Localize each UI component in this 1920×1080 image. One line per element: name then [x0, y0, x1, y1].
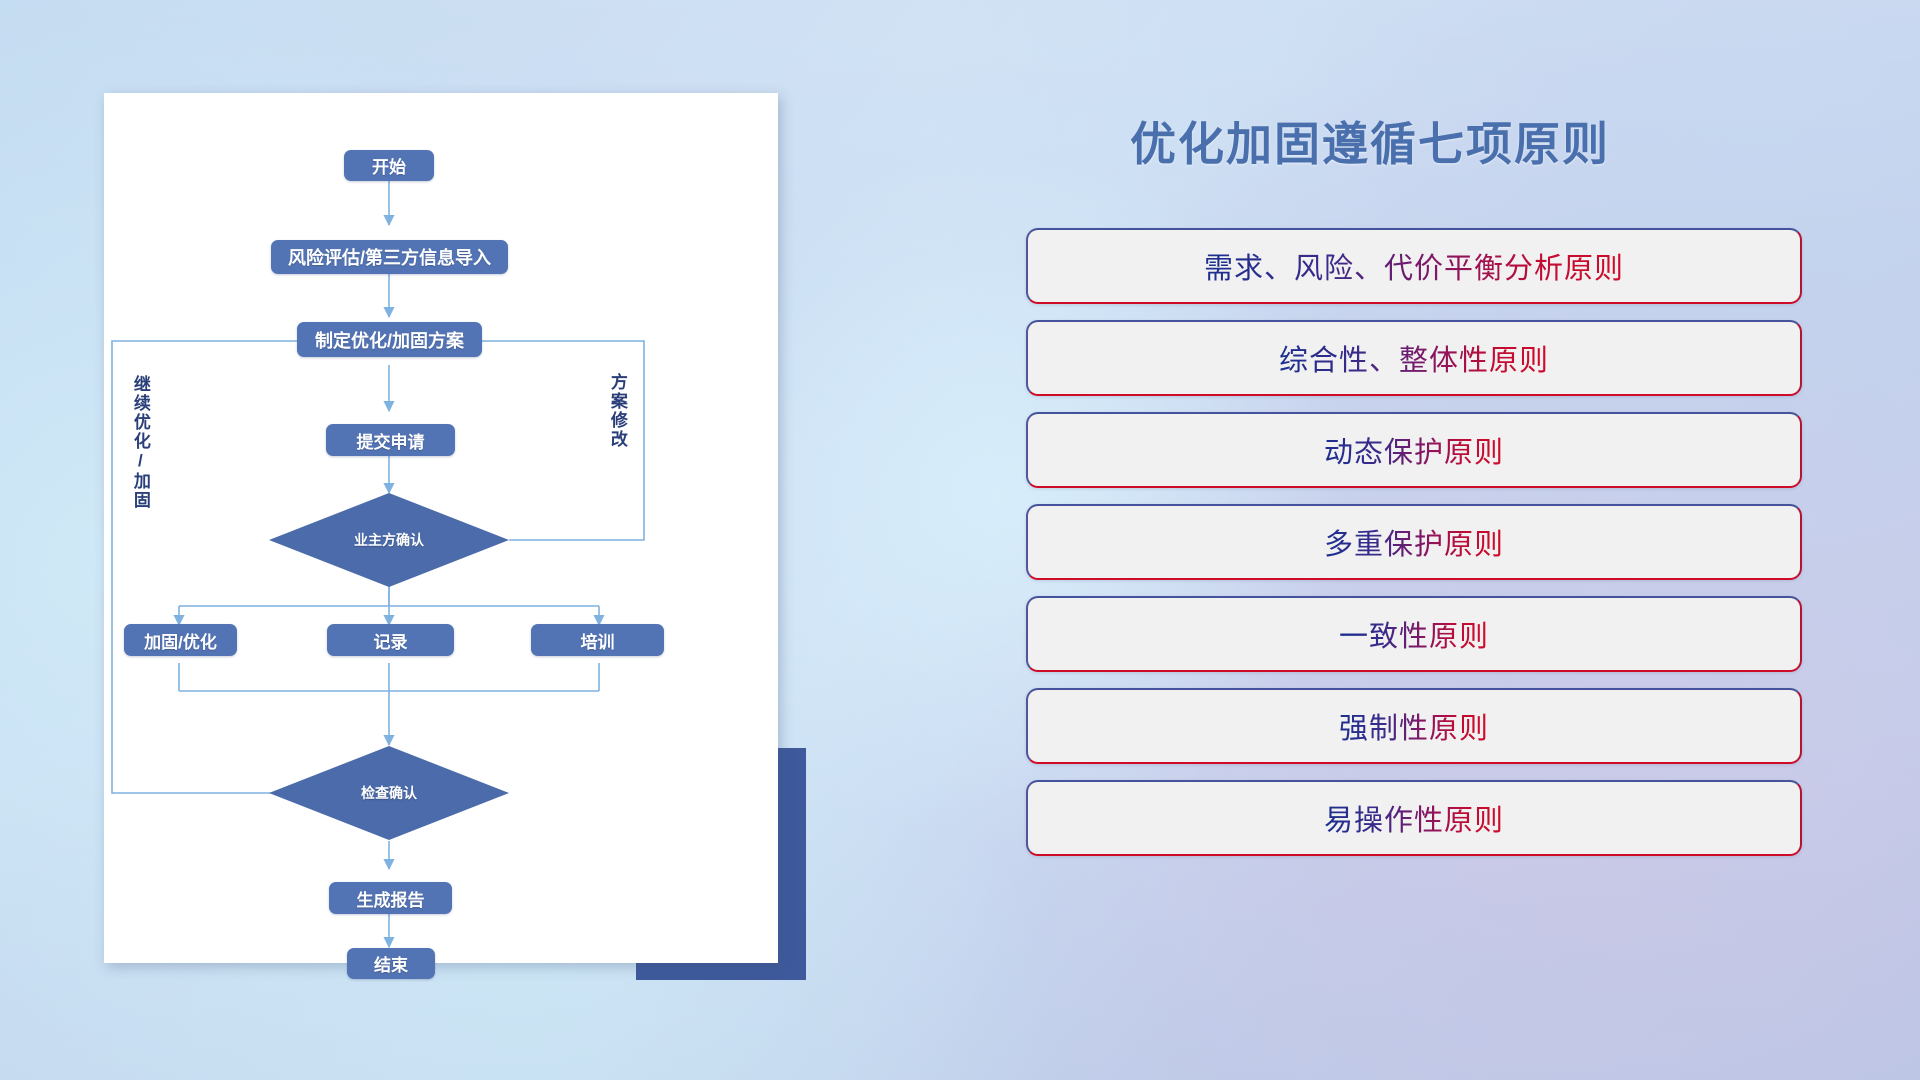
principle-label: 需求、风险、代价平衡分析原则	[1204, 245, 1624, 287]
flow-node-plan[interactable]: 制定优化/加固方案	[297, 322, 482, 357]
flow-node-label: 培训	[581, 628, 615, 653]
right-panel-title: 优化加固遵循七项原则	[1020, 108, 1720, 174]
flow-node-start[interactable]: 开始	[344, 150, 434, 181]
principle-item[interactable]: 多重保护原则	[1026, 504, 1802, 580]
flow-node-report[interactable]: 生成报告	[329, 882, 452, 914]
flow-node-label: 提交申请	[357, 428, 425, 453]
principle-label: 综合性、整体性原则	[1279, 337, 1549, 379]
flow-node-record[interactable]: 记录	[327, 624, 454, 656]
principle-item[interactable]: 强制性原则	[1026, 688, 1802, 764]
principle-label: 多重保护原则	[1324, 521, 1504, 563]
flow-node-training[interactable]: 培训	[531, 624, 664, 656]
flow-node-label: 风险评估/第三方信息导入	[288, 244, 491, 270]
flow-node-reinforce[interactable]: 加固/优化	[124, 624, 237, 656]
flow-node-label: 开始	[372, 153, 406, 178]
flow-node-label: 加固/优化	[144, 628, 217, 653]
principle-item[interactable]: 一致性原则	[1026, 596, 1802, 672]
flow-node-owner-confirm[interactable]: 业主方确认	[269, 493, 509, 587]
principle-label: 一致性原则	[1339, 613, 1489, 655]
flowchart-card: 开始 风险评估/第三方信息导入 制定优化/加固方案 提交申请 业主方确认 加固/…	[104, 93, 778, 963]
principle-label: 动态保护原则	[1324, 429, 1504, 471]
flow-node-end[interactable]: 结束	[347, 948, 435, 979]
principle-label: 易操作性原则	[1324, 797, 1504, 839]
flow-node-label: 检查确认	[361, 783, 417, 803]
flow-node-check-confirm[interactable]: 检查确认	[269, 746, 509, 840]
flow-node-label: 业主方确认	[354, 530, 424, 550]
edge-label-plan-revision: 方案修改	[608, 373, 626, 449]
flow-node-label: 结束	[374, 951, 408, 976]
flow-node-submit[interactable]: 提交申请	[326, 424, 455, 456]
flow-node-label: 生成报告	[357, 886, 425, 911]
flow-node-label: 制定优化/加固方案	[315, 327, 464, 353]
principle-item[interactable]: 需求、风险、代价平衡分析原则	[1026, 228, 1802, 304]
flow-node-label: 记录	[374, 628, 408, 653]
principle-item[interactable]: 综合性、整体性原则	[1026, 320, 1802, 396]
principle-list: 需求、风险、代价平衡分析原则 综合性、整体性原则 动态保护原则 多重保护原则 一…	[1026, 228, 1802, 872]
principle-item[interactable]: 动态保护原则	[1026, 412, 1802, 488]
edge-label-continue-optimize: 继续优化/加固	[131, 375, 149, 510]
principle-item[interactable]: 易操作性原则	[1026, 780, 1802, 856]
flow-node-risk-assessment[interactable]: 风险评估/第三方信息导入	[271, 240, 508, 274]
principle-label: 强制性原则	[1339, 705, 1489, 747]
